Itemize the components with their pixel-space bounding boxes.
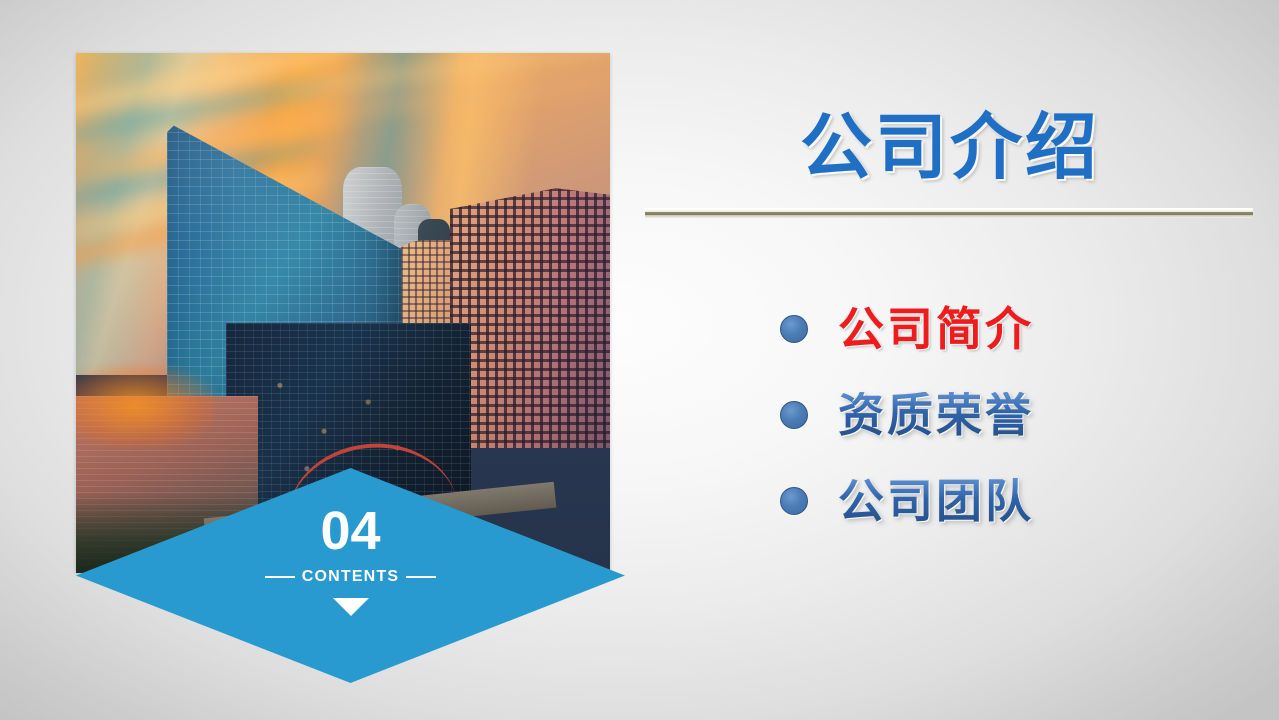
bullet-dot-icon (780, 315, 808, 343)
sunset-glow (76, 365, 215, 448)
list-item[interactable]: 公司简介 (780, 286, 1260, 372)
divider-bottom-bevel (645, 215, 1253, 218)
title-divider (645, 208, 1253, 219)
perforated-window-tower (450, 188, 610, 448)
agenda-list: 公司简介 资质荣誉 公司团队 (780, 286, 1260, 544)
presentation-slide: 04 CONTENTS 公司介绍 公司简介 资质荣誉 公司团队 (0, 0, 1279, 720)
page-title: 公司介绍 (646, 88, 1254, 193)
list-item-label: 公司简介 (838, 306, 1034, 352)
list-item-label: 公司团队 (838, 478, 1034, 524)
list-item[interactable]: 资质荣誉 (780, 372, 1260, 458)
list-item-label: 资质荣誉 (838, 392, 1034, 438)
list-item[interactable]: 公司团队 (780, 458, 1260, 544)
bullet-dot-icon (780, 487, 808, 515)
bullet-dot-icon (780, 401, 808, 429)
